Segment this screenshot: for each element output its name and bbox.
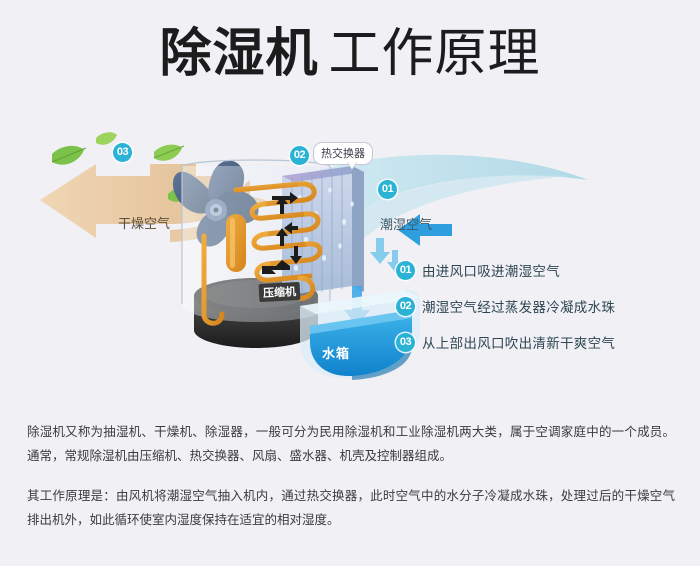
description-paragraph-1: 除湿机又称为抽湿机、干燥机、除湿器，一般可分为民用除湿机和工业除湿机两大类，属于…: [27, 420, 675, 468]
dry-air-badge: 03: [113, 143, 132, 162]
legend-badge-01: 01: [396, 261, 415, 280]
heat-exchanger-callout: 热交换器: [313, 142, 373, 165]
legend-item-01: 01 由进风口吸进潮湿空气: [396, 252, 686, 288]
legend-text-03: 从上部出风口吹出清新干爽空气: [422, 332, 615, 352]
legend-badge-02: 02: [396, 297, 415, 316]
water-tank-label: 水箱: [322, 343, 350, 362]
legend-text-02: 潮湿空气经过蒸发器冷凝成水珠: [422, 296, 615, 316]
dry-air-label: 干燥空气: [118, 213, 170, 232]
legend-item-02: 02 潮湿空气经过蒸发器冷凝成水珠: [396, 288, 686, 324]
heat-exchanger-badge: 02: [290, 146, 309, 165]
page-title: 除湿机工作原理: [0, 28, 700, 80]
page-title-main: 除湿机: [159, 28, 318, 80]
legend-text-01: 由进风口吸进潮湿空气: [422, 260, 560, 280]
description-block: 除湿机又称为抽湿机、干燥机、除湿器，一般可分为民用除湿机和工业除湿机两大类，属于…: [27, 420, 675, 532]
page-title-sub: 工作原理: [329, 28, 541, 80]
humid-air-label: 潮湿空气: [380, 214, 432, 233]
humid-air-badge: 01: [378, 180, 397, 199]
legend-list: 01 由进风口吸进潮湿空气 02 潮湿空气经过蒸发器冷凝成水珠 03 从上部出风…: [396, 252, 686, 360]
legend-badge-03: 03: [396, 333, 415, 352]
description-paragraph-2: 其工作原理是：由风机将潮湿空气抽入机内，通过热交换器，此时空气中的水分子冷凝成水…: [27, 484, 675, 532]
compressor-label: 压缩机: [259, 282, 301, 302]
accumulator: [226, 214, 246, 272]
callout-tail-icon: [347, 161, 357, 169]
legend-item-03: 03 从上部出风口吹出清新干爽空气: [396, 324, 686, 360]
